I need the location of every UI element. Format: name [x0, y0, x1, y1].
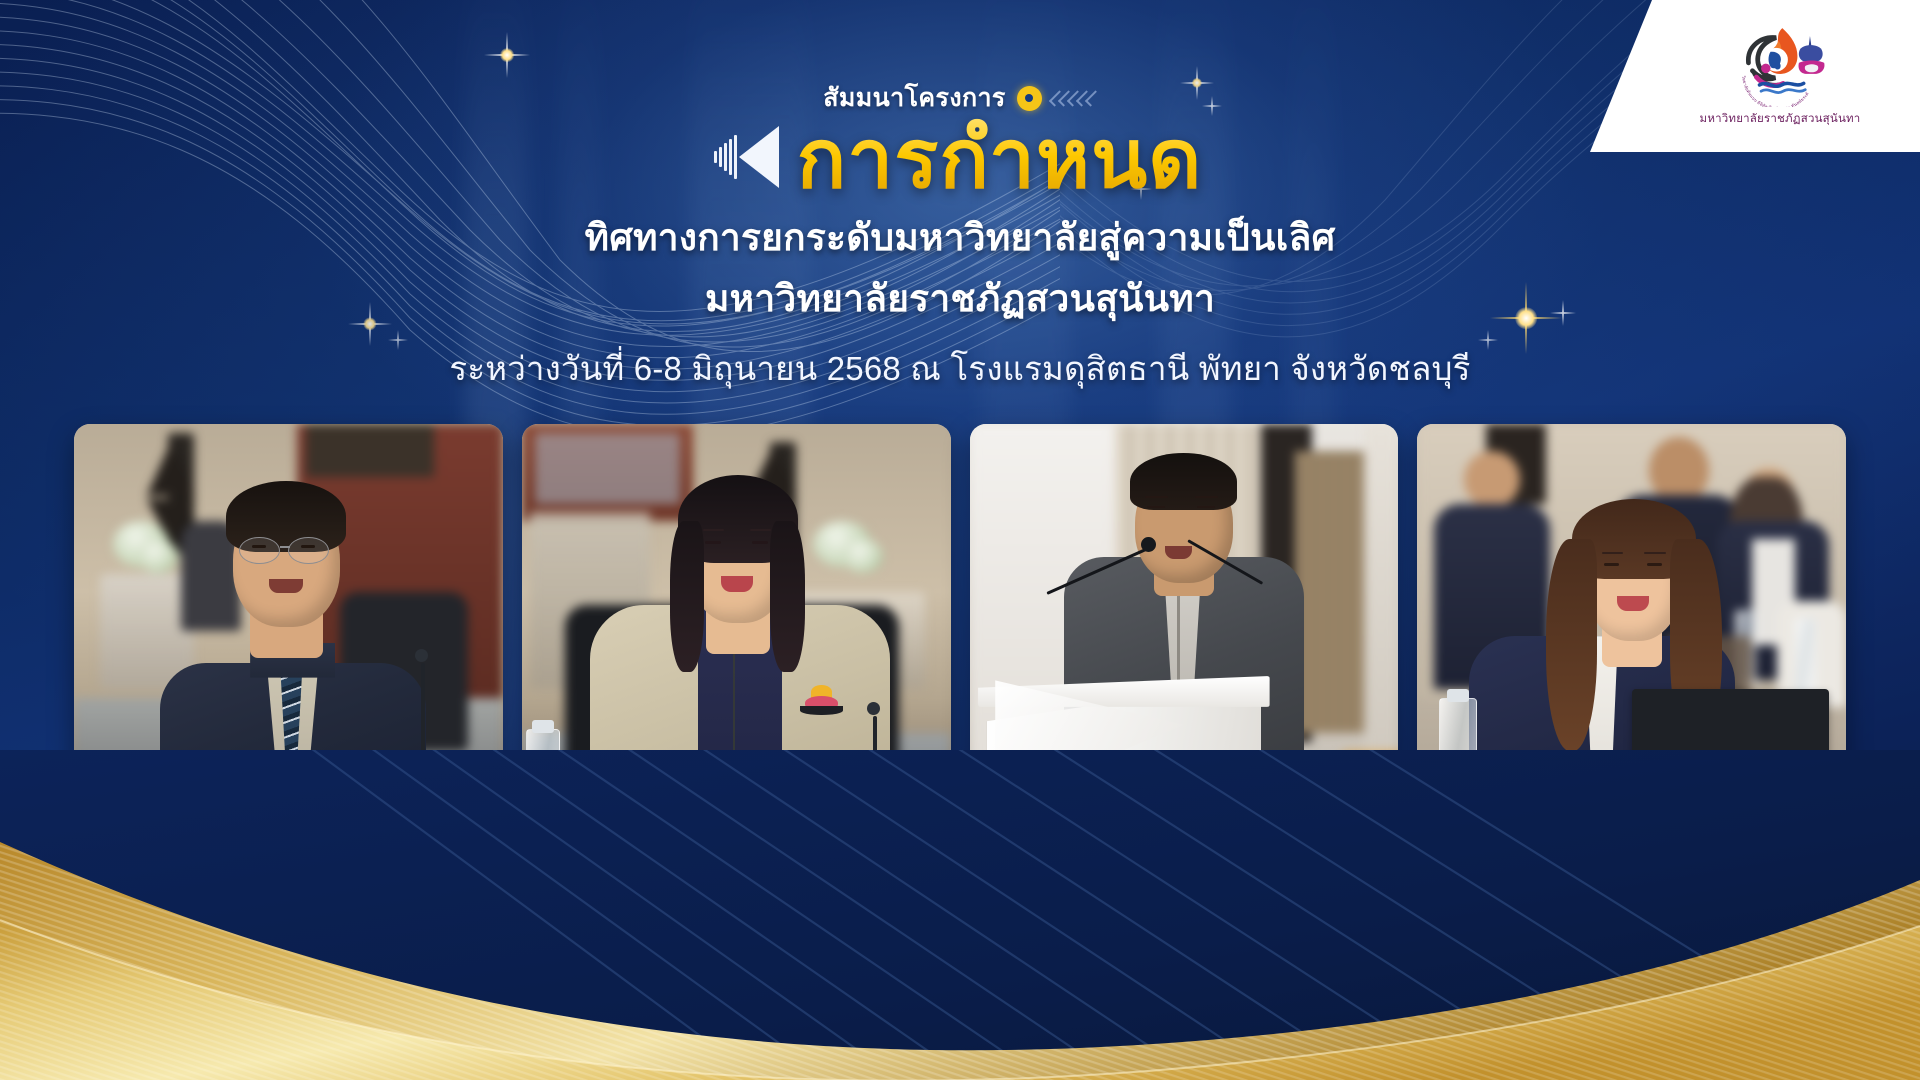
- subtitle-line-2: มหาวิทยาลัยราชภัฏสวนสุนันทา: [0, 269, 1920, 328]
- subtitle-line-1: ทิศทางการยกระดับมหาวิทยาลัยสู่ความเป็นเล…: [0, 208, 1920, 267]
- eyebrow-row: สัมมนาโครงการ: [0, 78, 1920, 118]
- photo-card-woman-beige-jacket[interactable]: [522, 424, 951, 866]
- eyebrow-text: สัมมนาโครงการ: [823, 78, 1006, 118]
- page-title: การกำหนด: [793, 118, 1207, 202]
- sparkle-icon: [1500, 912, 1540, 952]
- table-nameplate: [207, 802, 387, 853]
- dot-bullet-icon: [1017, 86, 1042, 111]
- podium-sub-text: PATTAYA: [1000, 843, 1081, 855]
- photo-card-man-podium[interactable]: Dusit Thani PATTAYA: [970, 424, 1399, 866]
- poster-header: สัมมนาโครงการ การกำหนด ทิศทางการยกระดับม…: [0, 78, 1920, 395]
- photo-gallery: Dusit Thani PATTAYA: [74, 424, 1846, 866]
- main-title-row: การกำหนด: [0, 118, 1920, 202]
- chevron-left-icons: [1053, 91, 1097, 106]
- seminar-poster: วิทยาลัยต้นแบบ ดิจิทัลเป็นเลิศ และ ทันสม…: [0, 0, 1920, 1080]
- play-triangle-left-icon: [714, 126, 779, 188]
- photo-card-woman-navy-blazer[interactable]: [1417, 424, 1846, 866]
- date-venue-text: ระหว่างวันที่ 6-8 มิถุนายน 2568 ณ โรงแรม…: [0, 342, 1920, 395]
- photo-card-man-suit-table[interactable]: [74, 424, 503, 866]
- podium-brand-text: Dusit Thani: [970, 802, 1125, 835]
- sparkle-icon: [484, 32, 530, 78]
- sparkle-icon: [740, 880, 774, 914]
